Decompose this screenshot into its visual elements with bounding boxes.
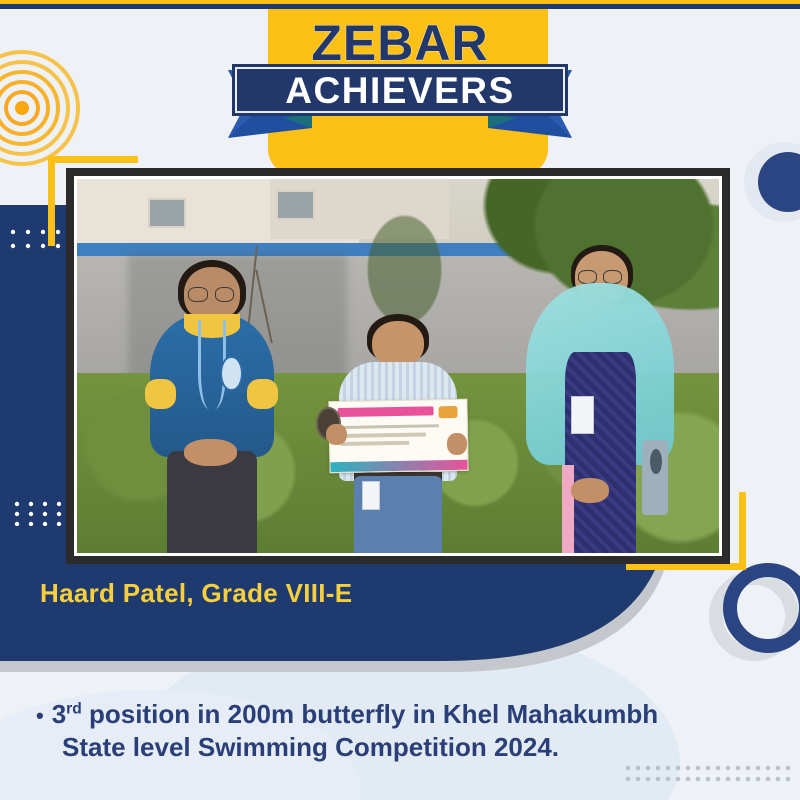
achievement-text: •3rd position in 200m butterfly in Khel … bbox=[36, 698, 756, 763]
person-student bbox=[334, 314, 462, 553]
achievement-line2: State level Swimming Competition 2024. bbox=[36, 731, 756, 764]
person-teacher-left bbox=[141, 254, 282, 553]
circle-outline-icon bbox=[706, 556, 800, 671]
photo-scene bbox=[77, 179, 719, 553]
student-name-caption: Haard Patel, Grade VIII-E bbox=[40, 578, 352, 609]
circle-filled-icon bbox=[742, 140, 800, 229]
header-underline bbox=[0, 4, 800, 9]
subtitle-label: ACHIEVERS bbox=[285, 72, 514, 109]
dot-grid-icon bbox=[624, 764, 794, 789]
achiever-poster: ZEBAR ACHIEVERS Haard Patel, Grade VIII-… bbox=[0, 0, 800, 800]
person-teacher-right bbox=[526, 239, 674, 553]
rank-number: 3 bbox=[52, 699, 66, 729]
subtitle-banner: ACHIEVERS bbox=[232, 64, 568, 116]
rank-suffix: rd bbox=[66, 700, 82, 717]
bullet-icon: • bbox=[36, 703, 44, 728]
achievement-line1: position in 200m butterfly in Khel Mahak… bbox=[82, 699, 658, 729]
achiever-photo bbox=[66, 168, 730, 564]
certificate bbox=[328, 399, 468, 473]
